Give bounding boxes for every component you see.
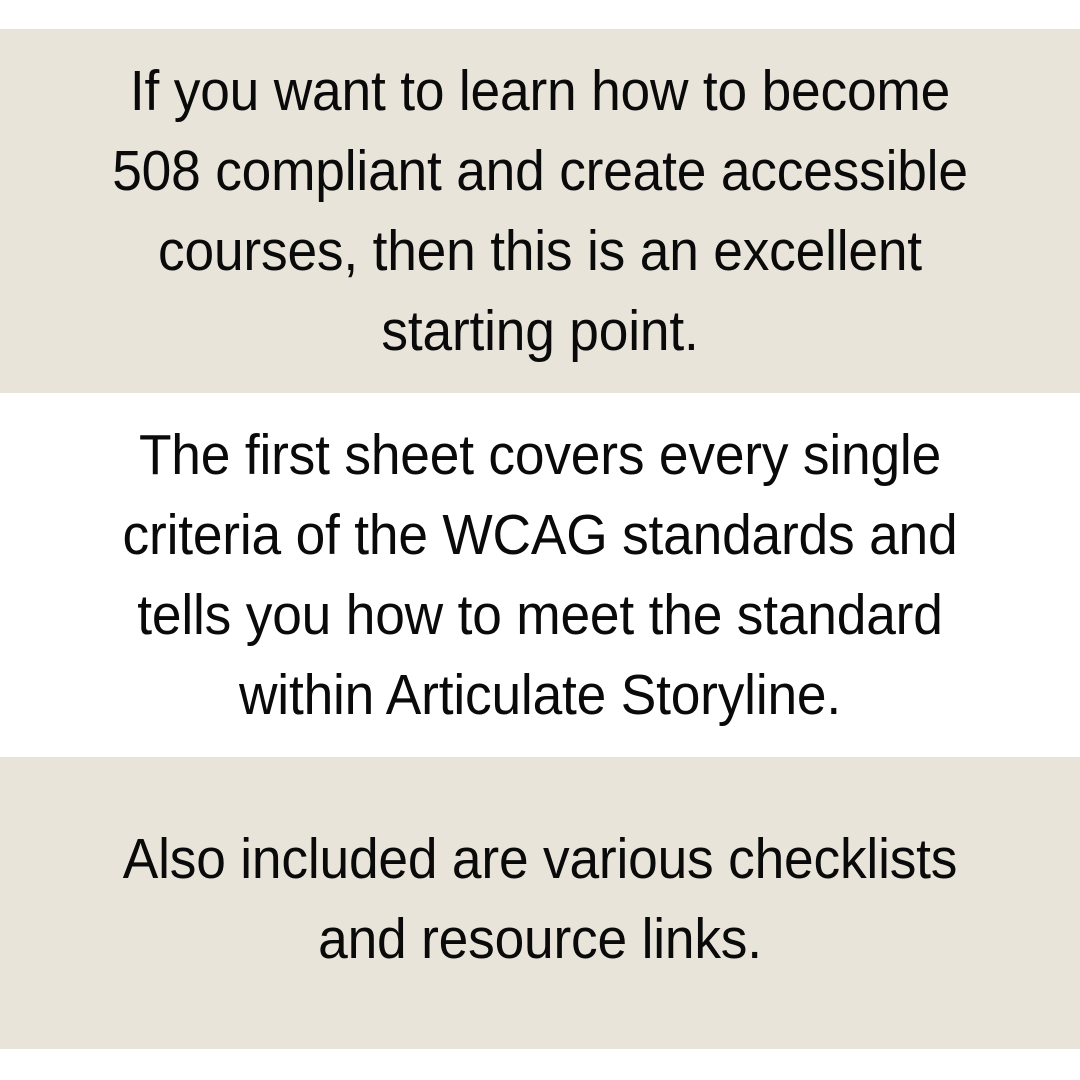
band-two-paragraph: The first sheet covers every single crit…	[67, 415, 1013, 735]
band-three-line-2: and resource links.	[67, 899, 1013, 979]
band-two-line-3: tells you how to meet the standard	[67, 575, 1013, 655]
band-three-line-1: Also included are various checklists	[67, 819, 1013, 899]
band-one-line-2: 508 compliant and create accessible	[67, 131, 1013, 211]
band-two-line-4: within Articulate Storyline.	[67, 655, 1013, 735]
band-one-paragraph: If you want to learn how to become 508 c…	[67, 51, 1013, 371]
band-one-line-4: starting point.	[67, 291, 1013, 371]
band-two-line-2: criteria of the WCAG standards and	[67, 495, 1013, 575]
band-one-line-1: If you want to learn how to become	[67, 51, 1013, 131]
band-two-line-1: The first sheet covers every single	[67, 415, 1013, 495]
text-band-one: If you want to learn how to become 508 c…	[0, 29, 1080, 393]
band-three-paragraph: Also included are various checklists and…	[67, 819, 1013, 979]
band-one-line-3: courses, then this is an excellent	[67, 211, 1013, 291]
promo-card: If you want to learn how to become 508 c…	[0, 0, 1080, 1080]
text-band-two: The first sheet covers every single crit…	[0, 393, 1080, 757]
text-band-three: Also included are various checklists and…	[0, 757, 1080, 1049]
